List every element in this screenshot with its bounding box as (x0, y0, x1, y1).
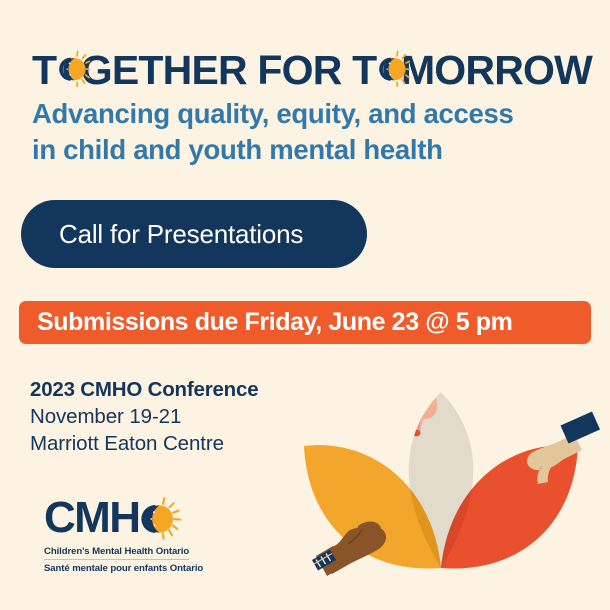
cmho-logo-mark: CMH (44, 495, 234, 541)
cmho-wordmark: CMH (44, 496, 139, 540)
event-dates: November 19-21 (30, 405, 330, 429)
sleeve-cuff-navy (561, 412, 601, 444)
submission-deadline-banner: Submissions due Friday, June 23 @ 5 pm (19, 301, 591, 344)
call-for-presentations-button[interactable]: Call for Presentations (21, 200, 367, 268)
sun-moon-icon (136, 495, 182, 541)
three-petal-lotus-illustration (286, 378, 610, 610)
headline-part-2: GETHER FOR T (81, 47, 377, 94)
cmho-tagline-french: Santé mentale pour enfants Ontario (44, 563, 234, 574)
sun-moon-icon (56, 50, 81, 90)
subtitle-line-1: Advancing quality, equity, and access (32, 96, 588, 132)
event-venue: Marriott Eaton Centre (30, 432, 330, 456)
headline-part-3: MORROW (401, 47, 592, 94)
event-title: 2023 CMHO Conference (30, 378, 330, 402)
headline-part-1: T (32, 47, 56, 94)
call-for-presentations-label: Call for Presentations (21, 219, 303, 250)
subtitle-line-2: in child and youth mental health (32, 132, 588, 168)
submission-deadline-label: Submissions due Friday, June 23 @ 5 pm (19, 308, 513, 337)
poster-canvas: T (0, 0, 610, 610)
cmho-logo: CMH (44, 495, 234, 570)
page-subtitle: Advancing quality, equity, and access in… (32, 96, 588, 169)
sun-moon-icon (376, 50, 401, 90)
page-title: T (32, 48, 592, 92)
cmho-tagline-english: Children's Mental Health Ontario (44, 546, 189, 560)
event-details: 2023 CMHO Conference November 19-21 Marr… (30, 378, 330, 456)
